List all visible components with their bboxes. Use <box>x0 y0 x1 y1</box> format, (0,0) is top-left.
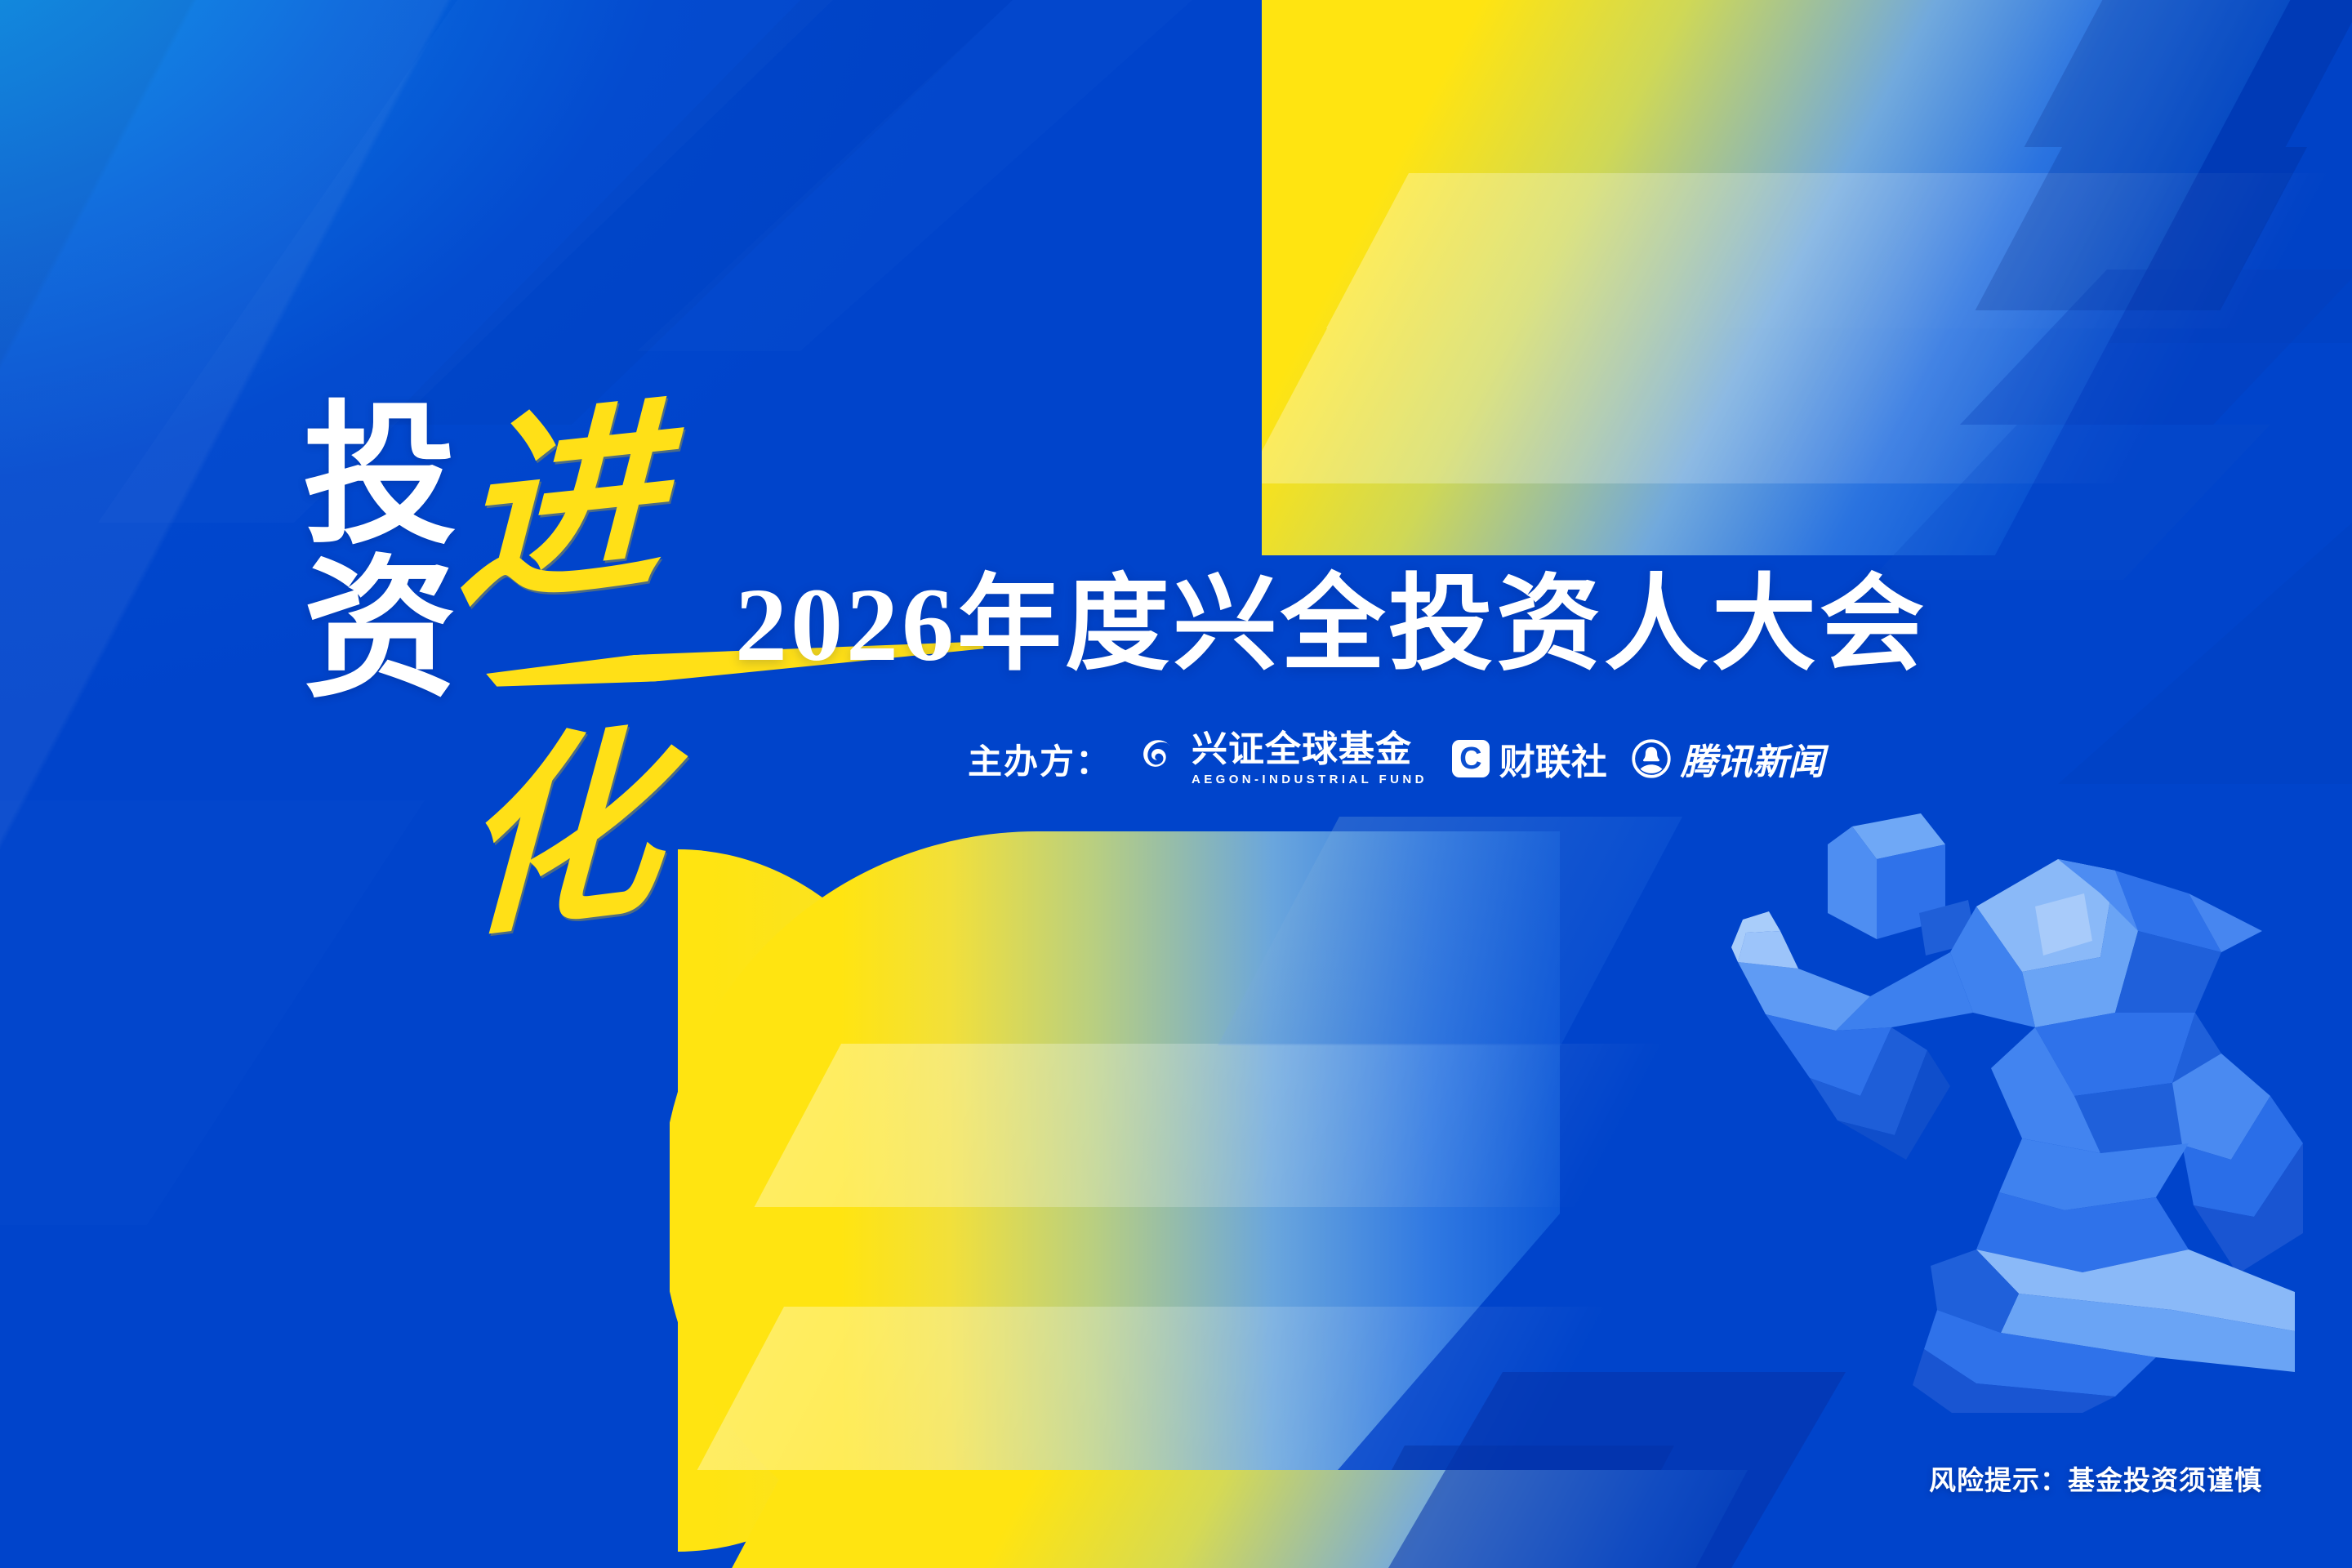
slogan-yellow-char-jin: 进 <box>456 397 662 624</box>
event-banner: 投资 进 化 2026年度兴全投资人大会 主办方： 兴证全球基金 AEGON-I… <box>0 0 2352 1568</box>
cailianshe-name-cn: 财联社 <box>1499 733 1607 785</box>
tencent-news-name-cn: 腾讯新闻 <box>1681 733 1824 785</box>
aegon-name-cn: 兴证全球基金 <box>1192 732 1428 768</box>
logo-cailianshe[interactable]: C 财联社 <box>1452 733 1607 785</box>
page-title: 2026年度兴全投资人大会 <box>735 572 1927 679</box>
aegon-name-en: AEGON-INDUSTRIAL FUND <box>1192 773 1428 786</box>
organizer-row: 主办方： 兴证全球基金 AEGON-INDUSTRIAL FUND C 财联社 … <box>968 732 1824 786</box>
cls-c-badge-icon: C <box>1452 740 1490 777</box>
slogan-white-vertical: 投资 <box>269 384 441 710</box>
organizer-label: 主办方： <box>968 734 1111 784</box>
logo-aegon-industrial-fund[interactable]: 兴证全球基金 AEGON-INDUSTRIAL FUND <box>1136 732 1428 786</box>
low-poly-runner-illustration <box>1731 808 2303 1413</box>
logo-tencent-news[interactable]: 腾讯新闻 <box>1632 733 1824 785</box>
tencent-news-bell-icon <box>1632 739 1671 778</box>
risk-disclaimer: 风险提示：基金投资须谨慎 <box>1929 1459 2262 1498</box>
decor-top-right-notch-group <box>1837 269 2352 612</box>
faint-watermark <box>800 351 1470 408</box>
swirl-spiral-icon <box>1136 737 1180 781</box>
slogan-yellow-char-hua: 化 <box>455 721 665 952</box>
